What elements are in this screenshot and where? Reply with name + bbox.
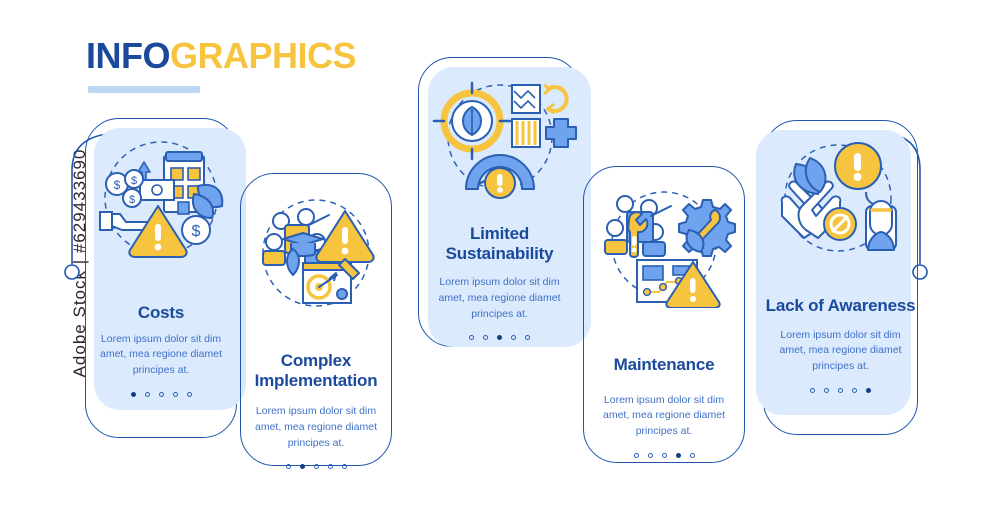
dot-1[interactable]: [634, 453, 639, 458]
dot-1[interactable]: [469, 335, 474, 340]
card-description: Lorem ipsum dolor sit dim amet, mea regi…: [240, 404, 392, 451]
dot-5[interactable]: [525, 335, 530, 340]
card-title: Limited Sustainability: [418, 224, 581, 263]
dot-2[interactable]: [648, 453, 653, 458]
dot-1[interactable]: [286, 464, 291, 469]
dot-3[interactable]: [159, 392, 164, 397]
pagination-dots[interactable]: [418, 335, 581, 340]
pagination-dots[interactable]: [583, 453, 745, 458]
svg-text:$: $: [131, 175, 137, 187]
page-title: INFOGRAPHICS: [86, 38, 356, 74]
title-part-graphics: GRAPHICS: [170, 35, 356, 76]
dot-3[interactable]: [838, 388, 843, 393]
dot-4[interactable]: [173, 392, 178, 397]
title-part-info: INFO: [86, 35, 170, 76]
pagination-dots[interactable]: [763, 388, 918, 393]
dot-2[interactable]: [824, 388, 829, 393]
card-title: Lack of Awareness: [763, 296, 918, 316]
dot-4[interactable]: [511, 335, 516, 340]
svg-text:$: $: [129, 194, 135, 206]
pagination-dots[interactable]: [240, 464, 392, 469]
dot-2[interactable]: [300, 464, 305, 469]
dot-5[interactable]: [690, 453, 695, 458]
dot-2[interactable]: [483, 335, 488, 340]
step-card-lack-of-awareness[interactable]: Lack of Awareness Lorem ipsum dolor sit …: [763, 120, 918, 435]
dot-4[interactable]: [328, 464, 333, 469]
dot-1[interactable]: [131, 392, 136, 397]
pagination-dots[interactable]: [85, 392, 237, 397]
costs-money-building-leaf-warning-icon: $ $ $ $: [85, 138, 237, 273]
dot-5[interactable]: [866, 388, 871, 393]
title-underline-rule: [88, 86, 200, 93]
dot-3[interactable]: [314, 464, 319, 469]
dot-3[interactable]: [497, 335, 502, 340]
maintenance-wrench-gear-panel-warning-icon: [583, 188, 745, 313]
card-description: Lorem ipsum dolor sit dim amet, mea regi…: [763, 328, 918, 375]
dot-5[interactable]: [342, 464, 347, 469]
complex-implementation-team-target-warning-icon: [240, 195, 392, 325]
limited-sustainability-target-leaf-gauge-icon: [418, 79, 581, 204]
dot-2[interactable]: [145, 392, 150, 397]
card-description: Lorem ipsum dolor sit dim amet, mea regi…: [583, 393, 745, 440]
card-title: Costs: [85, 303, 237, 323]
card-description: Lorem ipsum dolor sit dim amet, mea regi…: [418, 275, 581, 322]
dot-4[interactable]: [676, 453, 681, 458]
step-card-complex-implementation[interactable]: Complex Implementation Lorem ipsum dolor…: [240, 173, 392, 466]
dot-1[interactable]: [810, 388, 815, 393]
card-description: Lorem ipsum dolor sit dim amet, mea regi…: [85, 332, 237, 379]
step-card-maintenance[interactable]: Maintenance Lorem ipsum dolor sit dim am…: [583, 166, 745, 463]
lack-of-awareness-hands-leaf-prohibition-person-icon: [763, 140, 918, 270]
step-card-costs[interactable]: $ $ $ $ Costs Lorem i: [85, 118, 237, 438]
dot-5[interactable]: [187, 392, 192, 397]
step-card-limited-sustainability[interactable]: Limited Sustainability Lorem ipsum dolor…: [418, 57, 581, 347]
infographic-canvas: Adobe Stock | #629433690 INFOGRAPHICS: [0, 0, 1000, 526]
dot-3[interactable]: [662, 453, 667, 458]
card-title: Complex Implementation: [240, 351, 392, 390]
dot-4[interactable]: [852, 388, 857, 393]
svg-text:$: $: [192, 223, 201, 240]
card-title: Maintenance: [583, 355, 745, 375]
svg-text:$: $: [114, 178, 121, 192]
